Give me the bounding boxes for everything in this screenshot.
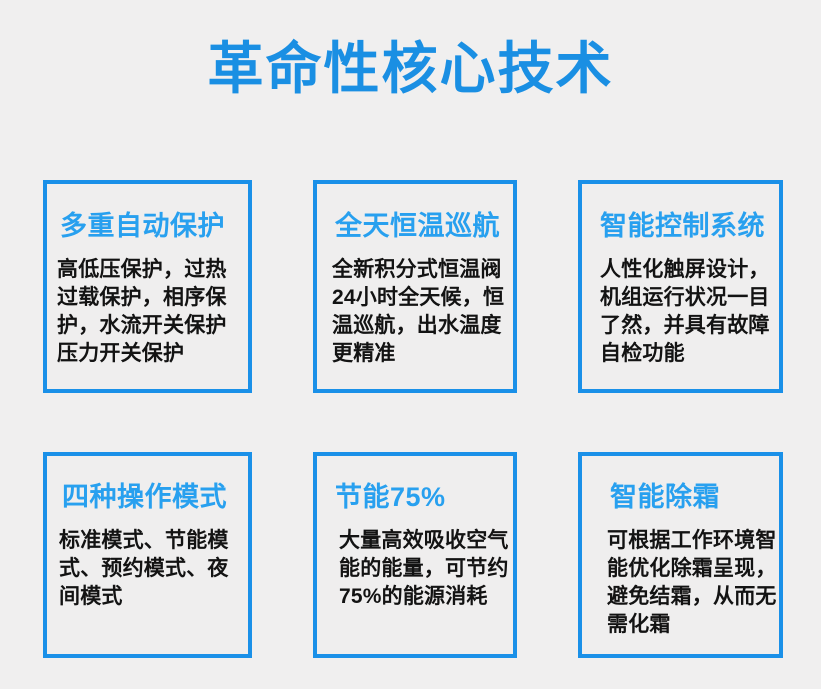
feature-card-heading: 多重自动保护 <box>60 211 225 242</box>
feature-card-body: 人性化触屏设计，机组运行状况一目了然，并具有故障自检功能 <box>600 256 778 368</box>
feature-card-heading: 智能除霜 <box>610 482 720 513</box>
feature-card-multi-protection: 多重自动保护 高低压保护，过热过载保护，相序保护，水流开关保护压力开关保护 <box>43 180 252 393</box>
feature-card-body: 全新积分式恒温阀24小时全天候，恒温巡航，出水温度更精准 <box>332 256 514 368</box>
feature-card-constant-temperature: 全天恒温巡航 全新积分式恒温阀24小时全天候，恒温巡航，出水温度更精准 <box>313 180 517 393</box>
feature-card-heading: 节能75% <box>335 482 446 513</box>
feature-card-body: 高低压保护，过热过载保护，相序保护，水流开关保护压力开关保护 <box>57 256 247 368</box>
feature-card-heading: 智能控制系统 <box>600 211 765 242</box>
feature-card-energy-saving: 节能75% 大量高效吸收空气能的能量，可节约75%的能源消耗 <box>313 452 517 658</box>
feature-card-four-modes: 四种操作模式 标准模式、节能模式、预约模式、夜间模式 <box>43 452 252 658</box>
card-content: 全天恒温巡航 全新积分式恒温阀24小时全天候，恒温巡航，出水温度更精准 <box>317 184 513 389</box>
feature-card-body: 可根据工作环境智能优化除霜呈现，避免结霜，从而无需化霜 <box>607 527 779 639</box>
feature-card-heading: 四种操作模式 <box>62 482 227 513</box>
feature-card-body: 大量高效吸收空气能的能量，可节约75%的能源消耗 <box>339 527 515 611</box>
card-content: 四种操作模式 标准模式、节能模式、预约模式、夜间模式 <box>47 456 248 654</box>
infographic-page: 革命性核心技术 多重自动保护 高低压保护，过热过载保护，相序保护，水流开关保护压… <box>0 0 821 689</box>
page-title: 革命性核心技术 <box>0 38 821 100</box>
card-content: 智能控制系统 人性化触屏设计，机组运行状况一目了然，并具有故障自检功能 <box>582 184 779 389</box>
feature-card-smart-control: 智能控制系统 人性化触屏设计，机组运行状况一目了然，并具有故障自检功能 <box>578 180 783 393</box>
card-content: 节能75% 大量高效吸收空气能的能量，可节约75%的能源消耗 <box>317 456 513 654</box>
feature-card-smart-defrost: 智能除霜 可根据工作环境智能优化除霜呈现，避免结霜，从而无需化霜 <box>578 452 783 658</box>
card-content: 智能除霜 可根据工作环境智能优化除霜呈现，避免结霜，从而无需化霜 <box>582 456 779 654</box>
feature-card-body: 标准模式、节能模式、预约模式、夜间模式 <box>59 527 247 611</box>
feature-card-heading: 全天恒温巡航 <box>335 211 500 242</box>
card-content: 多重自动保护 高低压保护，过热过载保护，相序保护，水流开关保护压力开关保护 <box>47 184 248 389</box>
